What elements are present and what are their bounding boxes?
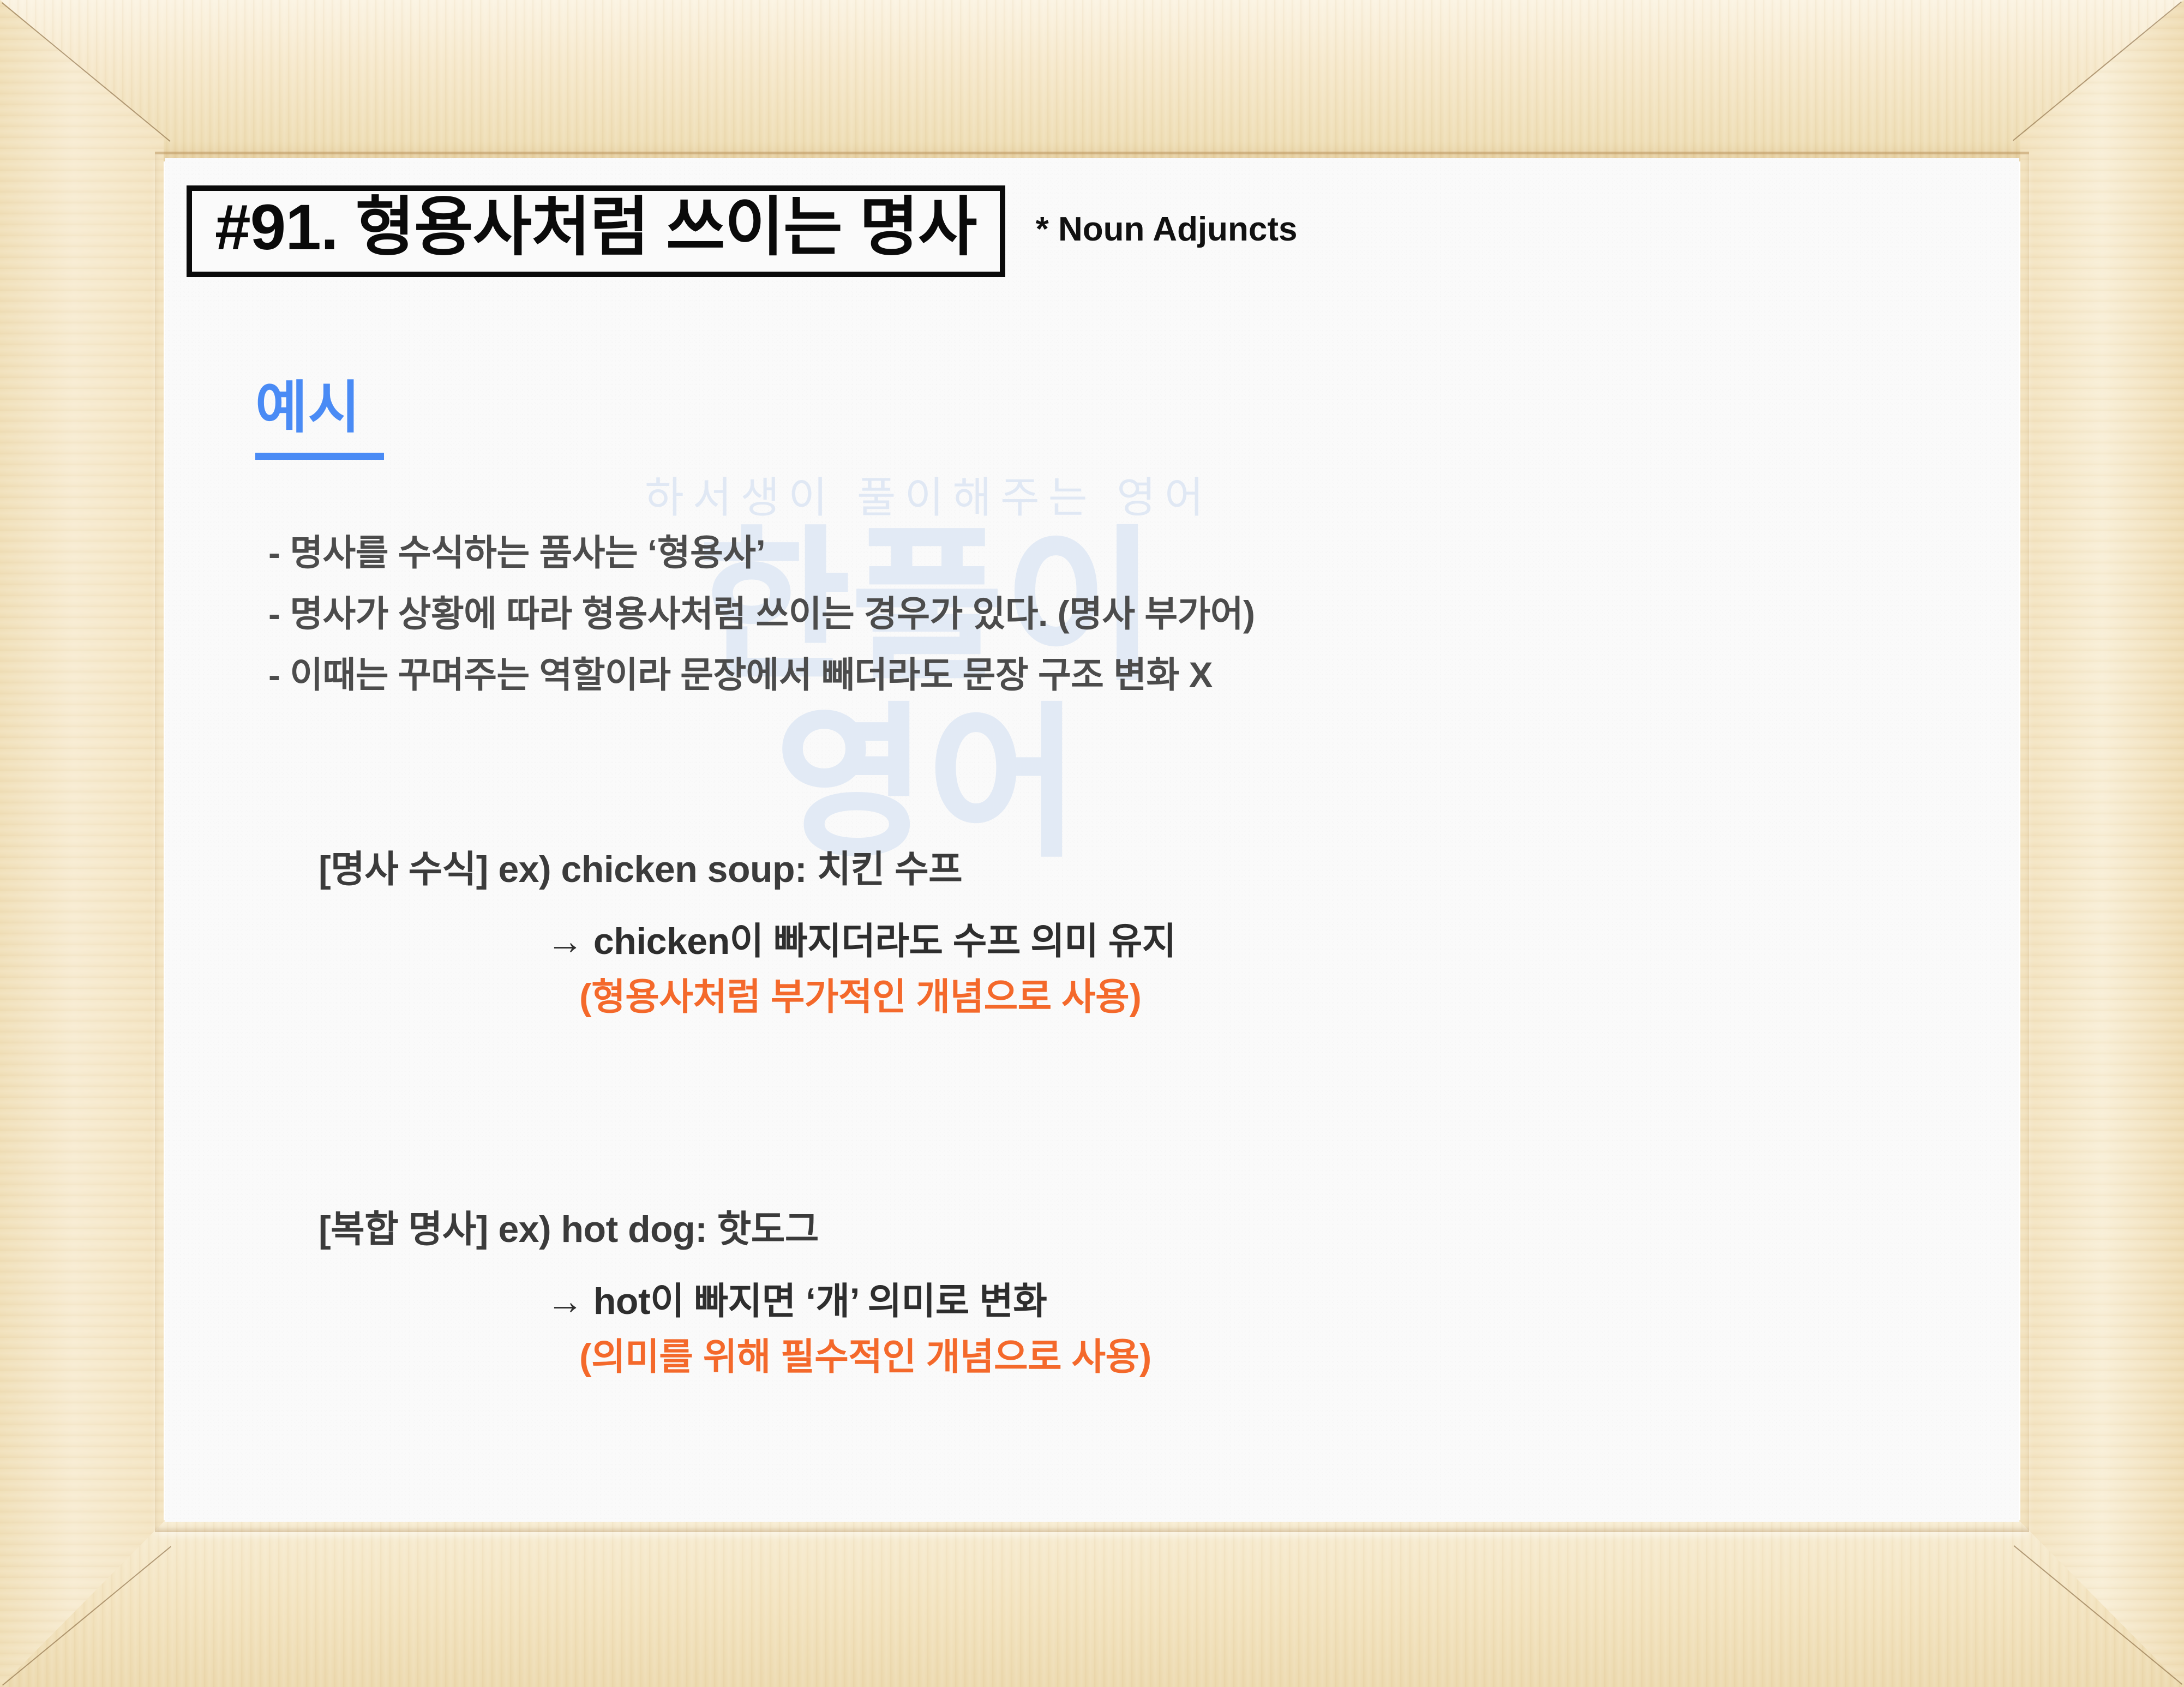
title-box: #91. 형용사처럼 쓰이는 명사 (187, 185, 1005, 277)
slide-title-row: #91. 형용사처럼 쓰이는 명사 * Noun Adjuncts (187, 185, 1298, 277)
section-heading: 예시 (255, 380, 384, 460)
section-heading-underline (255, 453, 384, 460)
example-block-compound-noun: [복합 명사] ex) hot dog: 핫도그 → hot이 빠지면 ‘개’ … (165, 1211, 2019, 1376)
frame-plank-top (0, 0, 2184, 161)
list-item: - 명사를 수식하는 품사는 ‘형용사’ (268, 535, 1255, 571)
slide-content: #91. 형용사처럼 쓰이는 명사 * Noun Adjuncts 예시 - 명… (165, 158, 2019, 1522)
example-block-noun-modifier: [명사 수식] ex) chicken soup: 치킨 수프 → chicke… (165, 851, 2019, 1016)
example-heading: [명사 수식] ex) chicken soup: 치킨 수프 (319, 851, 2019, 888)
list-item: - 이때는 꾸며주는 역할이라 문장에서 빼더라도 문장 구조 변화 X (268, 657, 1255, 693)
page-title: #91. 형용사처럼 쓰이는 명사 (215, 195, 977, 260)
list-item: - 명사가 상황에 따라 형용사처럼 쓰이는 경우가 있다. (명사 부가어) (268, 596, 1255, 632)
slide-canvas: 하서생이 풀이해주는 영어 한풀이 영어 #91. 형용사처럼 쓰이는 명사 *… (165, 158, 2019, 1522)
bullet-list: - 명사를 수식하는 품사는 ‘형용사’ - 명사가 상황에 따라 형용사처럼 … (268, 535, 1255, 718)
page-subtitle: * Noun Adjuncts (1036, 210, 1298, 253)
frame-plank-bottom (0, 1520, 2184, 1687)
example-explanation: → chicken이 빠지더라도 수프 의미 유지 (547, 923, 2019, 960)
example-heading: [복합 명사] ex) hot dog: 핫도그 (319, 1211, 2019, 1248)
framed-slide-photo: 하서생이 풀이해주는 영어 한풀이 영어 #91. 형용사처럼 쓰이는 명사 *… (0, 0, 2184, 1687)
frame-plank-right (2020, 0, 2184, 1687)
section-heading-label: 예시 (255, 380, 384, 436)
example-note: (의미를 위해 필수적인 개념으로 사용) (579, 1338, 2019, 1376)
example-explanation: → hot이 빠지면 ‘개’ 의미로 변화 (547, 1283, 2019, 1320)
example-note: (형용사처럼 부가적인 개념으로 사용) (579, 978, 2019, 1016)
frame-plank-left (0, 0, 164, 1687)
